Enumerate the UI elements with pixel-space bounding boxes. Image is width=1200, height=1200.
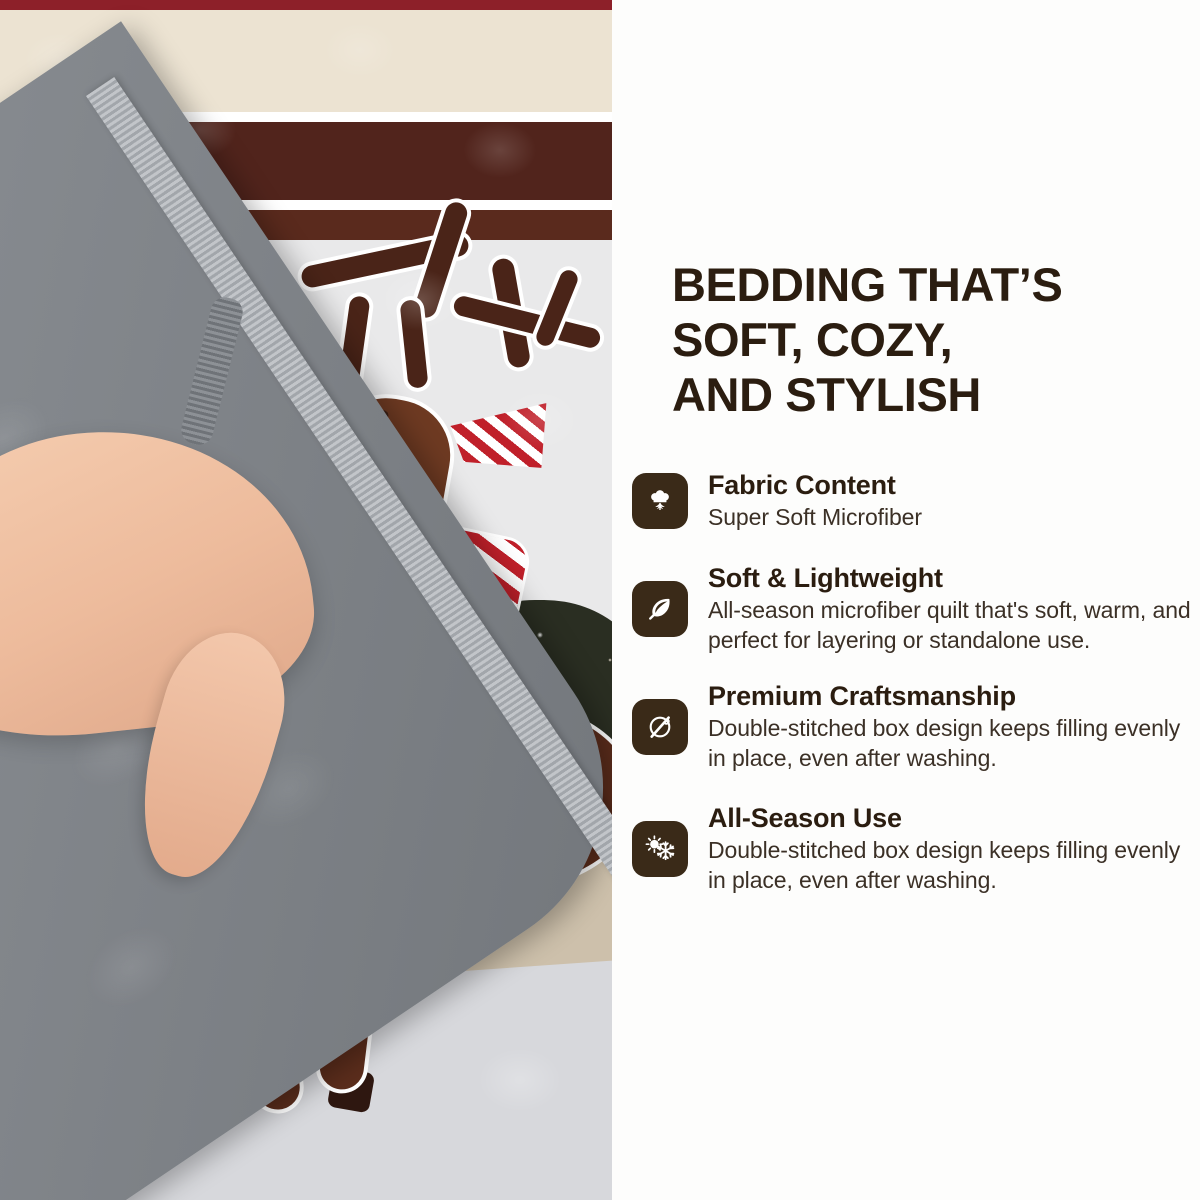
feature-title: Fabric Content [708, 470, 1200, 501]
cotton-boll-icon [632, 473, 688, 529]
feature-title: Premium Craftsmanship [708, 681, 1200, 712]
content-panel: BEDDING THAT’S SOFT, COZY, AND STYLISH [612, 0, 1200, 1200]
needle-thread-icon [632, 699, 688, 755]
sun-snowflake-icon [632, 821, 688, 877]
feature-text: Soft & Lightweight All-season microfiber… [708, 563, 1200, 655]
feature-list: Fabric Content Super Soft Microfiber Sof… [632, 470, 1200, 917]
feature-text: Premium Craftsmanship Double-stitched bo… [708, 681, 1200, 773]
feature-title: All-Season Use [708, 803, 1200, 834]
product-feature-banner: BEDDING THAT’S SOFT, COZY, AND STYLISH [0, 0, 1200, 1200]
headline-line-1: BEDDING THAT’S [672, 258, 1172, 313]
feature-text: Fabric Content Super Soft Microfiber [708, 470, 1200, 533]
feature-item-fabric-content: Fabric Content Super Soft Microfiber [632, 470, 1200, 533]
feature-item-soft-lightweight: Soft & Lightweight All-season microfiber… [632, 563, 1200, 655]
page-title: BEDDING THAT’S SOFT, COZY, AND STYLISH [672, 258, 1172, 423]
feature-item-premium-craftsmanship: Premium Craftsmanship Double-stitched bo… [632, 681, 1200, 773]
feature-description: Double-stitched box design keeps filling… [708, 836, 1200, 895]
feature-description: Super Soft Microfiber [708, 503, 1200, 532]
headline-line-2: SOFT, COZY, [672, 313, 1172, 368]
feature-item-all-season-use: All-Season Use Double-stitched box desig… [632, 803, 1200, 895]
feature-title: Soft & Lightweight [708, 563, 1200, 594]
feature-description: All-season microfiber quilt that's soft,… [708, 596, 1200, 655]
feature-text: All-Season Use Double-stitched box desig… [708, 803, 1200, 895]
feather-icon [632, 581, 688, 637]
product-photo [0, 0, 612, 1200]
feature-description: Double-stitched box design keeps filling… [708, 714, 1200, 773]
headline-line-3: AND STYLISH [672, 368, 1172, 423]
